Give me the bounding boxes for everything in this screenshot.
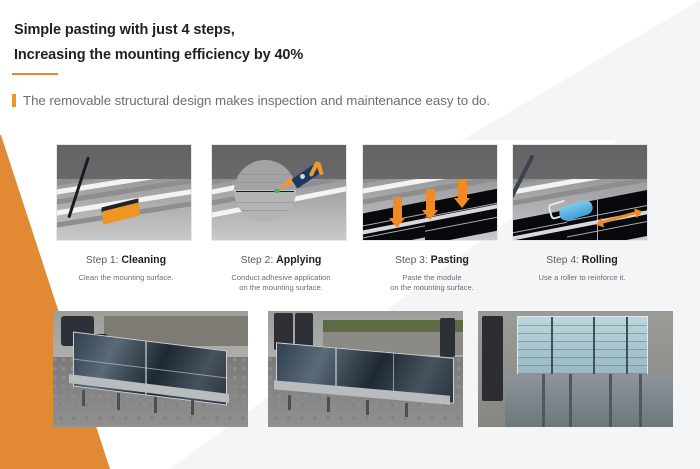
- step-4-prefix: Step 4:: [546, 255, 579, 266]
- photo-installed-pv-module-on-rails: [53, 311, 248, 427]
- step-3-prefix: Step 3:: [395, 255, 428, 266]
- render-sky: [363, 145, 497, 183]
- photo-worker-far: [440, 318, 456, 357]
- step-3-description-line1: Paste the module: [362, 273, 502, 283]
- press-arrow-2: [426, 189, 435, 211]
- step-4-name: Rolling: [582, 254, 618, 266]
- press-arrow-1: [393, 197, 402, 219]
- step-3-caption: Step 3: Pasting: [362, 254, 502, 266]
- step-1-thumbnail: [56, 144, 192, 241]
- step-1-description-line: Clean the mounting surface.: [56, 273, 196, 283]
- photo-metal-roof-sheet-lifted: [478, 311, 673, 427]
- step-3-thumbnail: [362, 144, 498, 241]
- steps-row: Step 1: Cleaning Clean the mounting surf…: [0, 144, 700, 304]
- step-3-name: Pasting: [431, 254, 469, 266]
- step-item-4: Step 4: Rolling Use a roller to reinforc…: [512, 144, 652, 283]
- photo-row: [0, 311, 700, 427]
- step-item-2: Step 2: Applying Conduct adhesive applic…: [211, 144, 351, 293]
- magnifier-circle-icon: [234, 160, 296, 222]
- subheading: The removable structural design makes in…: [12, 93, 490, 108]
- adhesive-seam: [236, 191, 294, 192]
- page-title: Simple pasting with just 4 steps, Increa…: [14, 18, 303, 68]
- step-4-caption: Step 4: Rolling: [512, 254, 652, 266]
- title-underline-rule: [12, 73, 58, 75]
- slide-root: Simple pasting with just 4 steps, Increa…: [0, 0, 700, 469]
- step-item-1: Step 1: Cleaning Clean the mounting surf…: [56, 144, 196, 283]
- photo-pv-modules-row-on-ground: [268, 311, 463, 427]
- step-1-prefix: Step 1:: [86, 255, 119, 266]
- step-4-description: Use a roller to reinforce it.: [512, 273, 652, 283]
- step-1-name: Cleaning: [121, 254, 166, 266]
- adhesive-bead-icon: [274, 189, 280, 193]
- render-sky: [513, 145, 647, 183]
- photo-worker-right: [295, 313, 313, 348]
- photo-worker: [482, 316, 503, 402]
- step-2-caption: Step 2: Applying: [211, 254, 351, 266]
- step-2-description-line2: on the mounting surface.: [211, 283, 351, 293]
- step-2-name: Applying: [276, 254, 321, 266]
- step-3-description: Paste the module on the mounting surface…: [362, 273, 502, 293]
- title-line-2: Increasing the mounting efficiency by 40…: [14, 43, 303, 68]
- subheading-text: The removable structural design makes in…: [23, 93, 490, 108]
- step-2-description-line1: Conduct adhesive application: [211, 273, 351, 283]
- photo-roof-deck: [505, 374, 673, 427]
- step-1-caption: Step 1: Cleaning: [56, 254, 196, 266]
- render-sky: [57, 145, 191, 183]
- bullet-marker-icon: [12, 94, 16, 107]
- step-3-description-line2: on the mounting surface.: [362, 283, 502, 293]
- press-arrow-3: [458, 179, 467, 199]
- step-2-prefix: Step 2:: [241, 255, 274, 266]
- step-2-thumbnail: [211, 144, 347, 241]
- title-line-1: Simple pasting with just 4 steps,: [14, 18, 303, 43]
- step-4-description-line: Use a roller to reinforce it.: [512, 273, 652, 283]
- step-2-description: Conduct adhesive application on the moun…: [211, 273, 351, 293]
- step-1-description: Clean the mounting surface.: [56, 273, 196, 283]
- step-4-thumbnail: [512, 144, 648, 241]
- step-item-3: Step 3: Pasting Paste the module on the …: [362, 144, 502, 293]
